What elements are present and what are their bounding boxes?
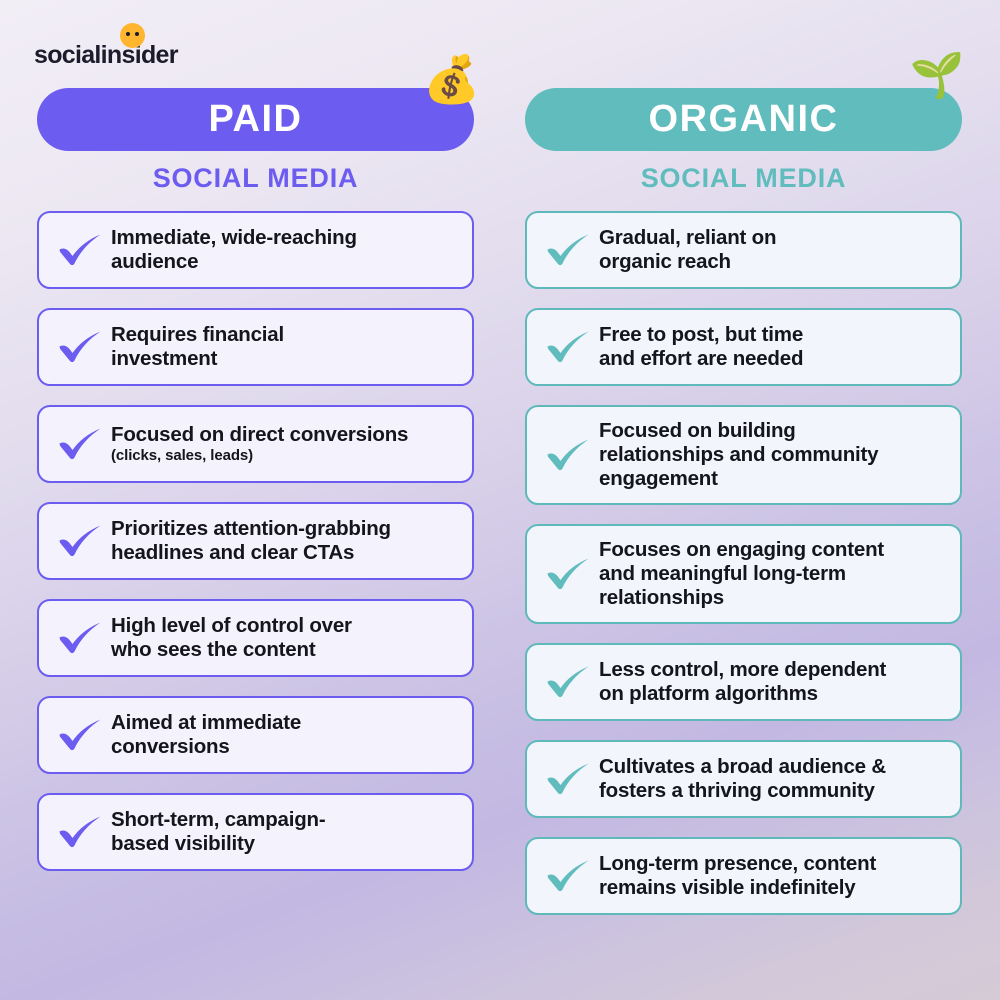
smiley-eye-left xyxy=(126,32,130,36)
check-icon-svg xyxy=(545,762,591,796)
feature-card[interactable]: Focused on building relationships and co… xyxy=(525,405,962,505)
feature-card[interactable]: Free to post, but time and effort are ne… xyxy=(525,308,962,386)
infographic-canvas: socialinsider PAID 💰 SOCIAL MEDIA Immedi… xyxy=(0,0,1000,1000)
header-title-paid: PAID xyxy=(209,98,303,141)
check-icon-svg xyxy=(57,330,103,364)
feature-card-text: Focuses on engaging content and meaningf… xyxy=(599,538,946,610)
check-icon xyxy=(49,327,111,367)
check-icon xyxy=(49,230,111,270)
header-pill-organic: ORGANIC 🌱 xyxy=(525,88,962,151)
feature-card-text: High level of control over who sees the … xyxy=(111,614,458,662)
check-icon xyxy=(49,424,111,464)
feature-card[interactable]: Less control, more dependent on platform… xyxy=(525,643,962,721)
check-icon-svg xyxy=(57,233,103,267)
feature-card[interactable]: Focuses on engaging content and meaningf… xyxy=(525,524,962,624)
seedling-emoji: 🌱 xyxy=(910,54,966,98)
feature-card-text: Cultivates a broad audience & fosters a … xyxy=(599,755,946,803)
header-subtitle-organic: SOCIAL MEDIA xyxy=(525,163,962,194)
feature-card-text: Immediate, wide-reaching audience xyxy=(111,226,458,274)
feature-card[interactable]: Gradual, reliant on organic reach xyxy=(525,211,962,289)
header-pill-paid: PAID 💰 xyxy=(37,88,474,151)
check-icon xyxy=(537,435,599,475)
feature-card-text: Short-term, campaign- based visibility xyxy=(111,808,458,856)
check-icon xyxy=(49,715,111,755)
feature-card[interactable]: Requires financial investment xyxy=(37,308,474,386)
feature-card-text: Gradual, reliant on organic reach xyxy=(599,226,946,274)
feature-card[interactable]: Short-term, campaign- based visibility xyxy=(37,793,474,871)
feature-card[interactable]: Prioritizes attention-grabbing headlines… xyxy=(37,502,474,580)
check-icon xyxy=(49,521,111,561)
check-icon xyxy=(537,662,599,702)
check-icon-svg xyxy=(545,665,591,699)
check-icon xyxy=(537,759,599,799)
logo-wordmark: socialinsider xyxy=(34,43,178,68)
check-icon xyxy=(537,856,599,896)
smiley-dot-icon xyxy=(120,23,145,48)
check-icon xyxy=(49,618,111,658)
feature-card[interactable]: High level of control over who sees the … xyxy=(37,599,474,677)
feature-card-text: Focused on direct conversions(clicks, sa… xyxy=(111,423,458,464)
check-icon xyxy=(49,812,111,852)
header-subtitle-paid: SOCIAL MEDIA xyxy=(37,163,474,194)
check-icon-svg xyxy=(545,557,591,591)
feature-card-text: Less control, more dependent on platform… xyxy=(599,658,946,706)
socialinsider-logo: socialinsider xyxy=(34,38,178,72)
check-icon-svg xyxy=(57,621,103,655)
check-icon-svg xyxy=(545,438,591,472)
check-icon-svg xyxy=(545,859,591,893)
check-icon-svg xyxy=(57,524,103,558)
check-icon xyxy=(537,327,599,367)
feature-card-text: Aimed at immediate conversions xyxy=(111,711,458,759)
feature-card[interactable]: Focused on direct conversions(clicks, sa… xyxy=(37,405,474,483)
feature-card-text: Long-term presence, content remains visi… xyxy=(599,852,946,900)
feature-card[interactable]: Aimed at immediate conversions xyxy=(37,696,474,774)
check-icon-svg xyxy=(57,718,103,752)
check-icon-svg xyxy=(57,815,103,849)
feature-card-text: Focused on building relationships and co… xyxy=(599,419,946,491)
money-bag-emoji: 💰 xyxy=(423,56,482,102)
card-list-organic: Gradual, reliant on organic reachFree to… xyxy=(525,211,962,934)
card-list-paid: Immediate, wide-reaching audienceRequire… xyxy=(37,211,474,890)
check-icon-svg xyxy=(545,233,591,267)
feature-card-subtext: (clicks, sales, leads) xyxy=(111,447,458,464)
check-icon-svg xyxy=(545,330,591,364)
check-icon-svg xyxy=(57,427,103,461)
feature-card[interactable]: Immediate, wide-reaching audience xyxy=(37,211,474,289)
feature-card-text: Requires financial investment xyxy=(111,323,458,371)
check-icon xyxy=(537,554,599,594)
feature-card[interactable]: Cultivates a broad audience & fosters a … xyxy=(525,740,962,818)
header-title-organic: ORGANIC xyxy=(649,98,839,141)
feature-card-text: Prioritizes attention-grabbing headlines… xyxy=(111,517,458,565)
check-icon xyxy=(537,230,599,270)
column-organic: ORGANIC 🌱 SOCIAL MEDIA Gradual, reliant … xyxy=(525,88,962,934)
smiley-eye-right xyxy=(135,32,139,36)
feature-card[interactable]: Long-term presence, content remains visi… xyxy=(525,837,962,915)
column-paid: PAID 💰 SOCIAL MEDIA Immediate, wide-reac… xyxy=(37,88,474,890)
feature-card-text: Free to post, but time and effort are ne… xyxy=(599,323,946,371)
